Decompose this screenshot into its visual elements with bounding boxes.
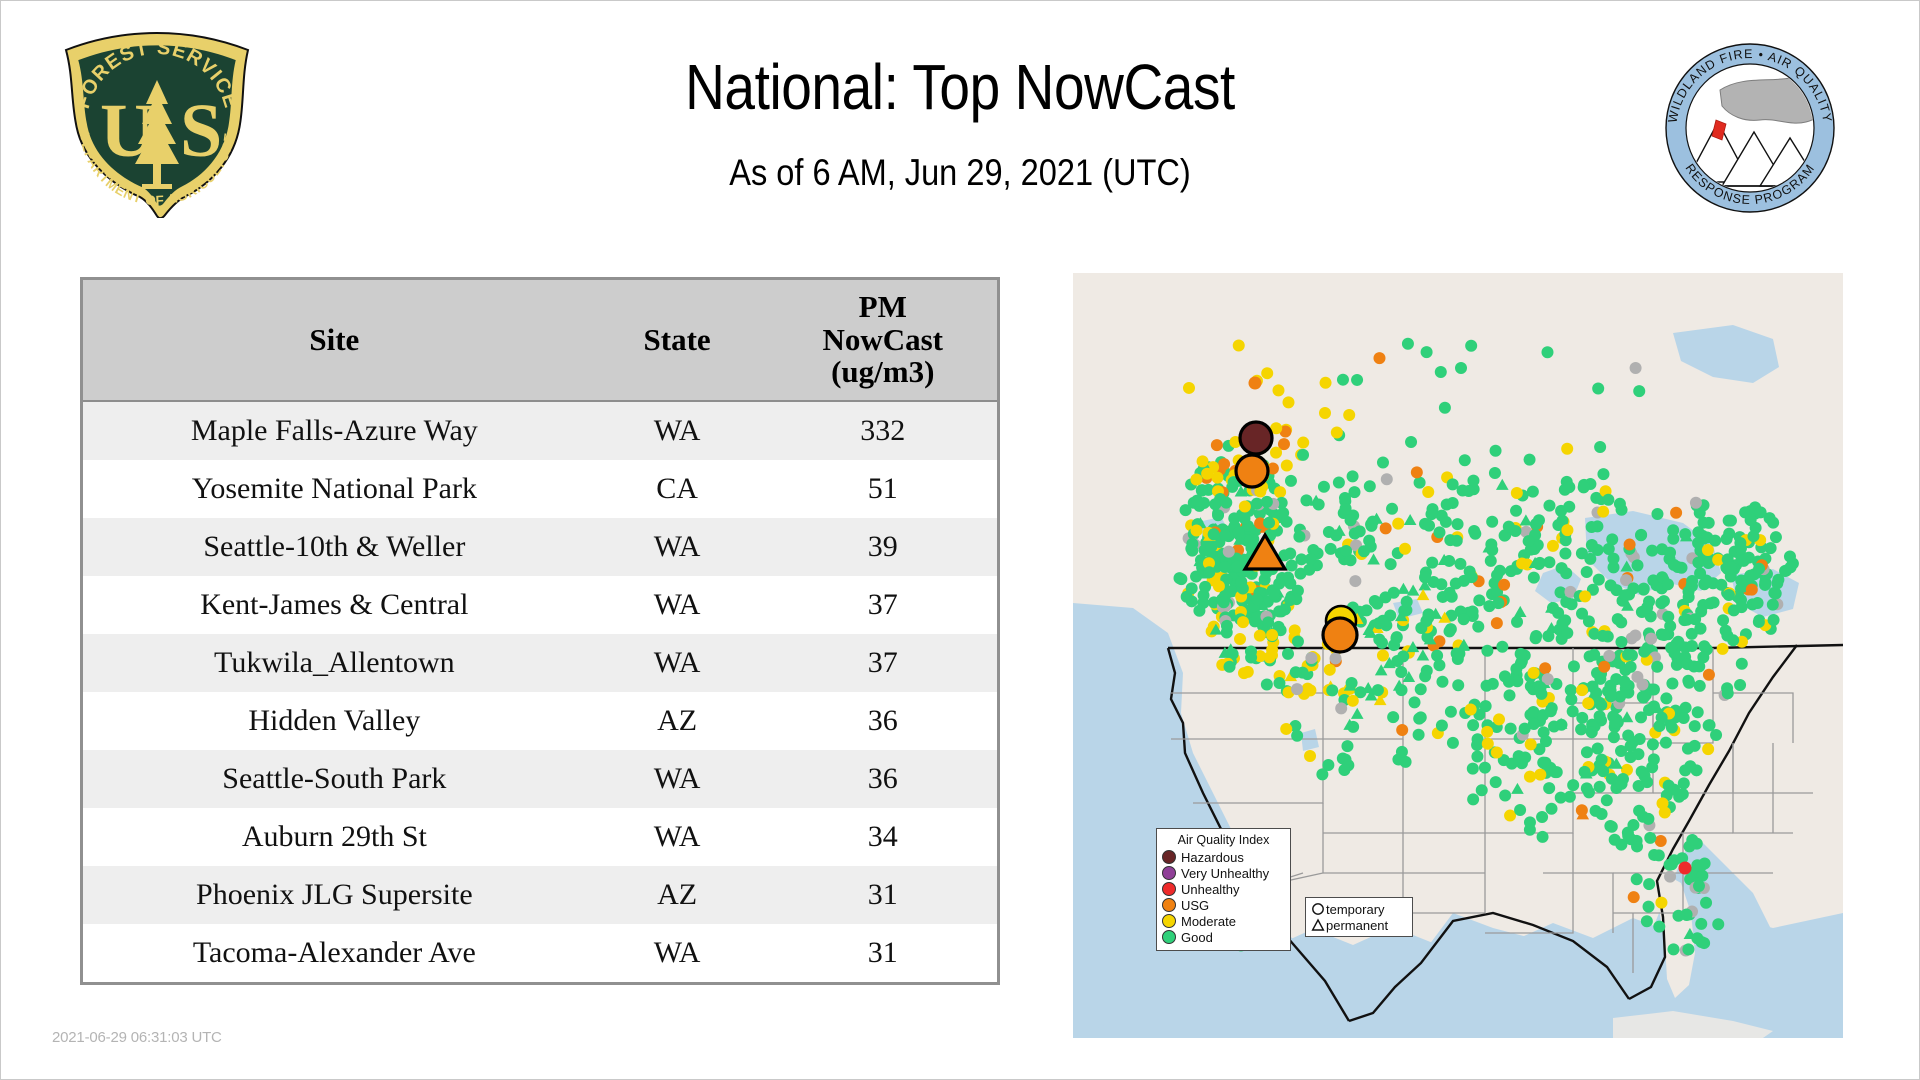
aqi-monitor-marker[interactable]	[1458, 575, 1470, 587]
aqi-monitor-marker[interactable]	[1358, 545, 1370, 557]
aqi-monitor-marker[interactable]	[1646, 545, 1658, 557]
aqi-monitor-marker[interactable]	[1303, 564, 1315, 576]
aqi-monitor-marker[interactable]	[1633, 805, 1645, 817]
aqi-monitor-marker[interactable]	[1467, 793, 1479, 805]
aqi-monitor-marker[interactable]	[1530, 632, 1542, 644]
aqi-monitor-marker[interactable]	[1422, 608, 1434, 620]
aqi-monitor-marker[interactable]	[1305, 652, 1317, 664]
aqi-monitor-marker[interactable]	[1492, 597, 1504, 609]
aqi-monitor-marker[interactable]	[1735, 542, 1747, 554]
aqi-monitor-marker[interactable]	[1190, 474, 1202, 486]
aqi-monitor-marker[interactable]	[1609, 717, 1621, 729]
aqi-monitor-marker[interactable]	[1369, 595, 1381, 607]
aqi-monitor-marker[interactable]	[1555, 792, 1567, 804]
aqi-monitor-marker[interactable]	[1660, 692, 1672, 704]
aqi-monitor-marker[interactable]	[1333, 477, 1345, 489]
aqi-monitor-marker[interactable]	[1722, 687, 1734, 699]
aqi-monitor-marker[interactable]	[1537, 831, 1549, 843]
aqi-monitor-marker[interactable]	[1444, 625, 1456, 637]
aqi-monitor-marker[interactable]	[1725, 515, 1737, 527]
aqi-monitor-marker[interactable]	[1560, 567, 1572, 579]
aqi-monitor-marker[interactable]	[1651, 661, 1663, 673]
aqi-monitor-marker[interactable]	[1486, 544, 1498, 556]
aqi-monitor-marker[interactable]	[1481, 680, 1493, 692]
top-site-marker-maple-falls[interactable]	[1240, 422, 1272, 454]
aqi-monitor-marker[interactable]	[1746, 584, 1758, 596]
aqi-monitor-marker[interactable]	[1489, 467, 1501, 479]
aqi-monitor-marker[interactable]	[1471, 751, 1483, 763]
aqi-monitor-marker[interactable]	[1665, 642, 1677, 654]
aqi-monitor-marker[interactable]	[1285, 475, 1297, 487]
aqi-monitor-marker[interactable]	[1445, 706, 1457, 718]
aqi-monitor-marker[interactable]	[1397, 650, 1409, 662]
aqi-monitor-marker[interactable]	[1228, 512, 1240, 524]
aqi-monitor-marker[interactable]	[1596, 754, 1608, 766]
aqi-monitor-marker[interactable]	[1541, 346, 1553, 358]
aqi-monitor-marker[interactable]	[1467, 763, 1479, 775]
aqi-monitor-marker[interactable]	[1555, 505, 1567, 517]
aqi-monitor-marker[interactable]	[1485, 555, 1497, 567]
aqi-monitor-marker[interactable]	[1645, 633, 1657, 645]
aqi-monitor-marker[interactable]	[1401, 596, 1413, 608]
aqi-monitor-marker[interactable]	[1234, 633, 1246, 645]
aqi-monitor-marker[interactable]	[1636, 766, 1648, 778]
aqi-monitor-marker[interactable]	[1576, 712, 1588, 724]
aqi-monitor-marker[interactable]	[1281, 459, 1293, 471]
aqi-monitor-marker[interactable]	[1524, 454, 1536, 466]
aqi-monitor-marker[interactable]	[1231, 561, 1243, 573]
aqi-monitor-marker[interactable]	[1376, 637, 1388, 649]
aqi-monitor-marker[interactable]	[1436, 676, 1448, 688]
aqi-monitor-marker[interactable]	[1698, 640, 1710, 652]
aqi-monitor-marker[interactable]	[1632, 748, 1644, 760]
aqi-monitor-marker[interactable]	[1304, 750, 1316, 762]
aqi-monitor-marker[interactable]	[1708, 596, 1720, 608]
aqi-monitor-marker[interactable]	[1354, 525, 1366, 537]
aqi-monitor-marker[interactable]	[1208, 528, 1220, 540]
aqi-monitor-marker[interactable]	[1364, 480, 1376, 492]
aqi-monitor-marker[interactable]	[1579, 590, 1591, 602]
aqi-monitor-marker[interactable]	[1736, 601, 1748, 613]
aqi-monitor-marker[interactable]	[1444, 534, 1456, 546]
aqi-monitor-marker[interactable]	[1523, 535, 1535, 547]
aqi-monitor-marker[interactable]	[1752, 597, 1764, 609]
aqi-monitor-marker[interactable]	[1721, 533, 1733, 545]
aqi-monitor-marker[interactable]	[1186, 582, 1198, 594]
aqi-monitor-marker[interactable]	[1702, 743, 1714, 755]
aqi-monitor-marker[interactable]	[1203, 566, 1215, 578]
aqi-monitor-marker[interactable]	[1578, 481, 1590, 493]
aqi-monitor-marker[interactable]	[1565, 693, 1577, 705]
aqi-monitor-marker[interactable]	[1515, 648, 1527, 660]
aqi-monitor-marker[interactable]	[1447, 497, 1459, 509]
aqi-monitor-marker[interactable]	[1436, 510, 1448, 522]
aqi-monitor-marker[interactable]	[1692, 706, 1704, 718]
aqi-monitor-marker[interactable]	[1201, 468, 1213, 480]
aqi-monitor-marker[interactable]	[1421, 346, 1433, 358]
aqi-monitor-marker[interactable]	[1274, 486, 1286, 498]
aqi-monitor-marker[interactable]	[1175, 573, 1187, 585]
aqi-monitor-marker[interactable]	[1767, 599, 1779, 611]
aqi-monitor-marker[interactable]	[1664, 547, 1676, 559]
aqi-monitor-marker[interactable]	[1655, 897, 1667, 909]
aqi-monitor-marker[interactable]	[1191, 525, 1203, 537]
aqi-monitor-marker[interactable]	[1670, 507, 1682, 519]
aqi-monitor-marker[interactable]	[1576, 547, 1588, 559]
aqi-monitor-marker[interactable]	[1439, 402, 1451, 414]
aqi-monitor-marker[interactable]	[1254, 630, 1266, 642]
aqi-monitor-marker[interactable]	[1519, 723, 1531, 735]
aqi-monitor-marker[interactable]	[1770, 531, 1782, 543]
aqi-monitor-marker[interactable]	[1220, 497, 1232, 509]
aqi-monitor-marker[interactable]	[1490, 776, 1502, 788]
aqi-monitor-marker[interactable]	[1561, 443, 1573, 455]
aqi-monitor-marker[interactable]	[1694, 680, 1706, 692]
aqi-monitor-marker[interactable]	[1753, 616, 1765, 628]
aqi-monitor-marker[interactable]	[1622, 830, 1634, 842]
aqi-monitor-marker[interactable]	[1537, 757, 1549, 769]
aqi-monitor-marker[interactable]	[1415, 683, 1427, 695]
aqi-monitor-marker[interactable]	[1476, 784, 1488, 796]
aqi-monitor-marker[interactable]	[1597, 630, 1609, 642]
aqi-monitor-marker[interactable]	[1318, 481, 1330, 493]
aqi-monitor-marker[interactable]	[1525, 738, 1537, 750]
aqi-monitor-marker[interactable]	[1667, 943, 1679, 955]
aqi-monitor-marker[interactable]	[1235, 576, 1247, 588]
aqi-monitor-marker[interactable]	[1680, 702, 1692, 714]
aqi-monitor-marker[interactable]	[1625, 661, 1637, 673]
aqi-monitor-marker[interactable]	[1292, 636, 1304, 648]
aqi-monitor-marker[interactable]	[1592, 742, 1604, 754]
aqi-monitor-marker[interactable]	[1385, 558, 1397, 570]
aqi-monitor-marker[interactable]	[1624, 539, 1636, 551]
aqi-monitor-marker[interactable]	[1765, 542, 1777, 554]
aqi-monitor-marker[interactable]	[1547, 540, 1559, 552]
aqi-monitor-marker[interactable]	[1239, 501, 1251, 513]
aqi-monitor-marker[interactable]	[1349, 575, 1361, 587]
aqi-monitor-marker[interactable]	[1458, 613, 1470, 625]
aqi-monitor-marker[interactable]	[1721, 630, 1733, 642]
aqi-monitor-marker[interactable]	[1738, 555, 1750, 567]
aqi-monitor-marker[interactable]	[1596, 808, 1608, 820]
aqi-monitor-marker[interactable]	[1524, 771, 1536, 783]
aqi-monitor-marker[interactable]	[1736, 658, 1748, 670]
aqi-monitor-marker[interactable]	[1527, 486, 1539, 498]
aqi-monitor-marker[interactable]	[1211, 439, 1223, 451]
aqi-monitor-marker[interactable]	[1593, 574, 1605, 586]
aqi-monitor-marker[interactable]	[1682, 943, 1694, 955]
aqi-monitor-marker[interactable]	[1594, 441, 1606, 453]
aqi-monitor-marker[interactable]	[1409, 696, 1421, 708]
aqi-monitor-marker[interactable]	[1583, 786, 1595, 798]
aqi-monitor-marker[interactable]	[1629, 630, 1641, 642]
aqi-monitor-marker[interactable]	[1211, 472, 1223, 484]
aqi-monitor-marker[interactable]	[1481, 645, 1493, 657]
aqi-monitor-marker[interactable]	[1193, 605, 1205, 617]
aqi-monitor-marker[interactable]	[1305, 553, 1317, 565]
aqi-monitor-marker[interactable]	[1415, 711, 1427, 723]
aqi-monitor-marker[interactable]	[1469, 528, 1481, 540]
aqi-monitor-marker[interactable]	[1261, 496, 1273, 508]
aqi-monitor-marker[interactable]	[1642, 813, 1654, 825]
aqi-monitor-marker[interactable]	[1689, 613, 1701, 625]
aqi-monitor-marker[interactable]	[1249, 377, 1262, 390]
aqi-monitor-marker[interactable]	[1648, 700, 1660, 712]
aqi-monitor-marker[interactable]	[1386, 503, 1398, 515]
aqi-monitor-marker[interactable]	[1223, 546, 1235, 558]
aqi-monitor-marker[interactable]	[1221, 620, 1233, 632]
aqi-monitor-marker[interactable]	[1505, 723, 1517, 735]
aqi-monitor-marker[interactable]	[1419, 518, 1431, 530]
aqi-monitor-marker[interactable]	[1594, 710, 1606, 722]
aqi-monitor-marker[interactable]	[1770, 587, 1782, 599]
aqi-monitor-marker[interactable]	[1703, 669, 1715, 681]
aqi-monitor-marker[interactable]	[1581, 566, 1593, 578]
aqi-monitor-marker[interactable]	[1498, 579, 1510, 591]
aqi-monitor-marker[interactable]	[1664, 871, 1676, 883]
aqi-monitor-marker[interactable]	[1499, 789, 1511, 801]
aqi-monitor-marker[interactable]	[1491, 617, 1503, 629]
aqi-monitor-marker[interactable]	[1607, 553, 1619, 565]
aqi-monitor-marker[interactable]	[1664, 620, 1676, 632]
aqi-monitor-marker[interactable]	[1245, 651, 1257, 663]
aqi-monitor-marker[interactable]	[1689, 740, 1701, 752]
aqi-monitor-marker[interactable]	[1277, 507, 1289, 519]
aqi-monitor-marker[interactable]	[1631, 559, 1643, 571]
aqi-monitor-marker[interactable]	[1283, 396, 1295, 408]
aqi-monitor-marker[interactable]	[1660, 737, 1672, 749]
aqi-monitor-marker[interactable]	[1628, 891, 1640, 903]
aqi-monitor-marker[interactable]	[1455, 362, 1467, 374]
aqi-monitor-marker[interactable]	[1467, 719, 1479, 731]
aqi-monitor-marker[interactable]	[1605, 690, 1617, 702]
aqi-monitor-marker[interactable]	[1672, 910, 1684, 922]
aqi-monitor-marker[interactable]	[1218, 458, 1230, 470]
aqi-monitor-marker[interactable]	[1326, 684, 1338, 696]
aqi-monitor-marker[interactable]	[1422, 486, 1434, 498]
aqi-monitor-marker[interactable]	[1347, 470, 1359, 482]
aqi-monitor-marker[interactable]	[1597, 506, 1609, 518]
aqi-monitor-marker[interactable]	[1542, 630, 1554, 642]
aqi-monitor-marker[interactable]	[1496, 641, 1508, 653]
aqi-monitor-marker[interactable]	[1504, 689, 1516, 701]
aqi-monitor-marker[interactable]	[1692, 537, 1704, 549]
aqi-monitor-marker[interactable]	[1373, 352, 1385, 364]
aqi-monitor-marker[interactable]	[1224, 661, 1236, 673]
aqi-monitor-marker[interactable]	[1641, 915, 1653, 927]
top-site-marker-seattle[interactable]	[1236, 455, 1268, 487]
aqi-monitor-marker[interactable]	[1242, 666, 1254, 678]
aqi-monitor-marker[interactable]	[1205, 541, 1217, 553]
aqi-monitor-marker[interactable]	[1627, 582, 1639, 594]
top-site-marker-phoenix[interactable]	[1323, 618, 1357, 652]
aqi-monitor-marker[interactable]	[1683, 677, 1695, 689]
aqi-monitor-marker[interactable]	[1263, 517, 1275, 529]
aqi-monitor-marker[interactable]	[1467, 475, 1479, 487]
aqi-monitor-marker[interactable]	[1560, 534, 1572, 546]
aqi-monitor-marker[interactable]	[1388, 587, 1400, 599]
aqi-monitor-marker[interactable]	[1563, 481, 1575, 493]
aqi-monitor-marker[interactable]	[1602, 494, 1614, 506]
aqi-monitor-marker[interactable]	[1270, 447, 1282, 459]
aqi-monitor-marker[interactable]	[1588, 649, 1600, 661]
aqi-monitor-marker[interactable]	[1579, 766, 1591, 778]
aqi-monitor-marker[interactable]	[1697, 651, 1709, 663]
aqi-monitor-marker[interactable]	[1183, 382, 1195, 394]
aqi-monitor-marker[interactable]	[1388, 639, 1400, 651]
aqi-monitor-marker[interactable]	[1339, 492, 1351, 504]
aqi-monitor-marker[interactable]	[1343, 409, 1355, 421]
aqi-monitor-marker[interactable]	[1372, 684, 1384, 696]
aqi-monitor-marker[interactable]	[1282, 648, 1294, 660]
aqi-monitor-marker[interactable]	[1680, 641, 1692, 653]
aqi-monitor-marker[interactable]	[1567, 779, 1579, 791]
aqi-monitor-marker[interactable]	[1452, 679, 1464, 691]
aqi-monitor-marker[interactable]	[1717, 643, 1729, 655]
aqi-monitor-marker[interactable]	[1638, 583, 1650, 595]
aqi-monitor-marker[interactable]	[1656, 712, 1668, 724]
aqi-monitor-marker[interactable]	[1284, 548, 1296, 560]
aqi-monitor-marker[interactable]	[1436, 720, 1448, 732]
aqi-monitor-marker[interactable]	[1753, 563, 1765, 575]
aqi-monitor-marker[interactable]	[1709, 535, 1721, 547]
aqi-monitor-marker[interactable]	[1472, 733, 1484, 745]
aqi-monitor-marker[interactable]	[1454, 558, 1466, 570]
aqi-monitor-marker[interactable]	[1472, 621, 1484, 633]
aqi-monitor-marker[interactable]	[1690, 497, 1702, 509]
aqi-monitor-marker[interactable]	[1297, 449, 1309, 461]
aqi-monitor-marker[interactable]	[1747, 530, 1759, 542]
aqi-monitor-marker[interactable]	[1606, 821, 1618, 833]
aqi-monitor-marker[interactable]	[1622, 649, 1634, 661]
aqi-monitor-marker[interactable]	[1581, 746, 1593, 758]
aqi-monitor-marker[interactable]	[1627, 819, 1639, 831]
aqi-monitor-marker[interactable]	[1615, 745, 1627, 757]
aqi-monitor-marker[interactable]	[1320, 377, 1332, 389]
aqi-monitor-marker[interactable]	[1644, 832, 1656, 844]
aqi-monitor-marker[interactable]	[1351, 374, 1363, 386]
aqi-monitor-marker[interactable]	[1209, 498, 1221, 510]
aqi-monitor-marker[interactable]	[1659, 806, 1671, 818]
aqi-monitor-marker[interactable]	[1280, 723, 1292, 735]
aqi-monitor-marker[interactable]	[1734, 679, 1746, 691]
aqi-monitor-marker[interactable]	[1490, 445, 1502, 457]
aqi-monitor-marker[interactable]	[1340, 545, 1352, 557]
aqi-monitor-marker[interactable]	[1411, 466, 1423, 478]
aqi-monitor-marker[interactable]	[1380, 522, 1392, 534]
aqi-monitor-marker[interactable]	[1771, 577, 1783, 589]
aqi-monitor-marker[interactable]	[1338, 764, 1350, 776]
aqi-monitor-marker[interactable]	[1686, 834, 1698, 846]
aqi-monitor-marker[interactable]	[1606, 773, 1618, 785]
aqi-monitor-marker[interactable]	[1534, 769, 1546, 781]
aqi-monitor-marker[interactable]	[1545, 705, 1557, 717]
aqi-monitor-marker[interactable]	[1426, 557, 1438, 569]
aqi-monitor-marker[interactable]	[1511, 487, 1523, 499]
aqi-monitor-marker[interactable]	[1396, 746, 1408, 758]
aqi-monitor-marker[interactable]	[1643, 901, 1655, 913]
aqi-monitor-marker[interactable]	[1614, 498, 1626, 510]
aqi-monitor-marker[interactable]	[1647, 738, 1659, 750]
aqi-monitor-marker[interactable]	[1392, 518, 1404, 530]
aqi-monitor-marker[interactable]	[1493, 713, 1505, 725]
aqi-monitor-marker[interactable]	[1219, 529, 1231, 541]
aqi-monitor-marker[interactable]	[1347, 695, 1359, 707]
aqi-monitor-marker[interactable]	[1710, 729, 1722, 741]
aqi-monitor-marker[interactable]	[1692, 557, 1704, 569]
aqi-monitor-marker[interactable]	[1528, 667, 1540, 679]
aqi-monitor-marker[interactable]	[1700, 897, 1712, 909]
aqi-monitor-marker[interactable]	[1463, 485, 1475, 497]
aqi-monitor-marker[interactable]	[1199, 581, 1211, 593]
aqi-monitor-marker[interactable]	[1219, 561, 1231, 573]
aqi-monitor-marker[interactable]	[1686, 575, 1698, 587]
aqi-monitor-marker[interactable]	[1251, 498, 1263, 510]
aqi-monitor-marker[interactable]	[1425, 508, 1437, 520]
aqi-monitor-marker[interactable]	[1335, 702, 1347, 714]
aqi-monitor-marker[interactable]	[1272, 384, 1284, 396]
aqi-monitor-marker[interactable]	[1561, 524, 1573, 536]
aqi-monitor-marker[interactable]	[1395, 666, 1407, 678]
aqi-monitor-marker[interactable]	[1583, 615, 1595, 627]
aqi-monitor-marker[interactable]	[1465, 704, 1477, 716]
aqi-monitor-marker[interactable]	[1637, 692, 1649, 704]
aqi-monitor-marker[interactable]	[1363, 535, 1375, 547]
aqi-monitor-marker[interactable]	[1668, 559, 1680, 571]
aqi-monitor-marker[interactable]	[1519, 752, 1531, 764]
aqi-monitor-marker[interactable]	[1510, 505, 1522, 517]
aqi-monitor-marker[interactable]	[1286, 560, 1298, 572]
aqi-monitor-marker[interactable]	[1325, 543, 1337, 555]
aqi-monitor-marker[interactable]	[1679, 862, 1692, 875]
aqi-monitor-marker[interactable]	[1633, 385, 1645, 397]
aqi-monitor-marker[interactable]	[1251, 593, 1263, 605]
aqi-monitor-marker[interactable]	[1785, 561, 1797, 573]
aqi-monitor-marker[interactable]	[1535, 688, 1547, 700]
aqi-monitor-marker[interactable]	[1655, 835, 1667, 847]
aqi-monitor-marker[interactable]	[1696, 936, 1708, 948]
aqi-monitor-marker[interactable]	[1597, 468, 1609, 480]
aqi-monitor-marker[interactable]	[1481, 726, 1493, 738]
aqi-monitor-marker[interactable]	[1539, 662, 1551, 674]
aqi-monitor-marker[interactable]	[1261, 679, 1273, 691]
aqi-monitor-marker[interactable]	[1534, 557, 1546, 569]
aqi-monitor-marker[interactable]	[1419, 670, 1431, 682]
aqi-monitor-marker[interactable]	[1636, 678, 1648, 690]
aqi-monitor-marker[interactable]	[1658, 595, 1670, 607]
aqi-monitor-marker[interactable]	[1233, 339, 1245, 351]
aqi-monitor-marker[interactable]	[1261, 367, 1273, 379]
aqi-monitor-marker[interactable]	[1702, 544, 1714, 556]
aqi-monitor-marker[interactable]	[1603, 650, 1615, 662]
aqi-monitor-marker[interactable]	[1666, 677, 1678, 689]
aqi-monitor-marker[interactable]	[1618, 675, 1630, 687]
aqi-monitor-marker[interactable]	[1399, 543, 1411, 555]
aqi-monitor-marker[interactable]	[1233, 526, 1245, 538]
aqi-monitor-marker[interactable]	[1180, 504, 1192, 516]
aqi-monitor-marker[interactable]	[1506, 758, 1518, 770]
aqi-monitor-marker[interactable]	[1723, 589, 1735, 601]
aqi-monitor-marker[interactable]	[1341, 740, 1353, 752]
aqi-monitor-marker[interactable]	[1635, 529, 1647, 541]
aqi-monitor-marker[interactable]	[1641, 601, 1653, 613]
aqi-monitor-marker[interactable]	[1186, 538, 1198, 550]
aqi-monitor-marker[interactable]	[1755, 506, 1767, 518]
aqi-monitor-marker[interactable]	[1290, 666, 1302, 678]
aqi-monitor-marker[interactable]	[1331, 427, 1343, 439]
aqi-monitor-marker[interactable]	[1377, 649, 1389, 661]
aqi-monitor-marker[interactable]	[1337, 374, 1349, 386]
